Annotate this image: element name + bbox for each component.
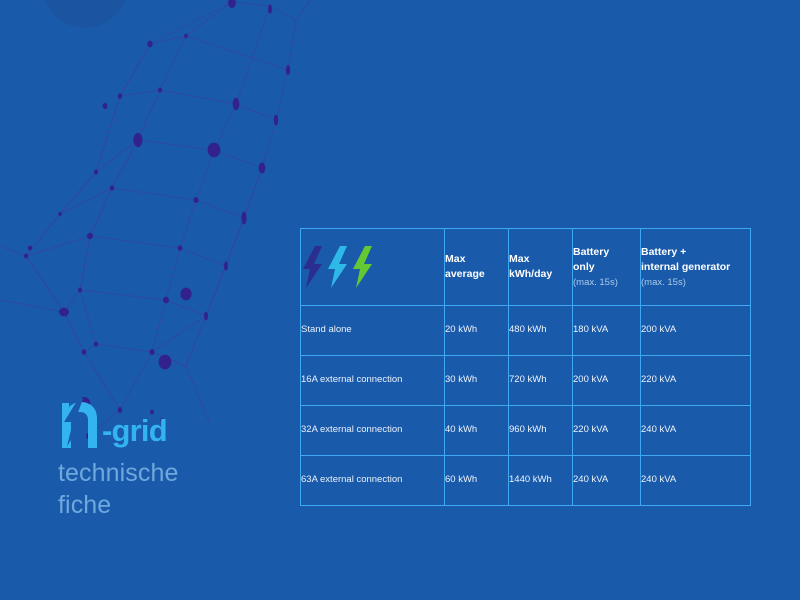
cell-max-kwh-day: 960 kWh [509,406,573,456]
cell-battery-plus-generator: 240 kVA [641,406,751,456]
cell-max-average: 20 kWh [445,306,509,356]
table-header-battery-plus-generator: Battery + internal generator (max. 15s) [641,229,751,306]
cell-battery-plus-generator: 240 kVA [641,456,751,506]
cell-max-average: 60 kWh [445,456,509,506]
header-line-2: average [445,267,508,282]
corner-accent-shape [42,0,128,28]
header-subnote: (max. 15s) [573,277,640,289]
table-header-battery-only: Battery only (max. 15s) [573,229,641,306]
table-header-max-average: Max average [445,229,509,306]
table-row: Stand alone 20 kWh 480 kWh 180 kVA 200 k… [301,306,751,356]
table-body: Stand alone 20 kWh 480 kWh 180 kVA 200 k… [301,306,751,506]
table-row: 63A external connection 60 kWh 1440 kWh … [301,456,751,506]
logo-block: -grid technische fiche [58,398,278,522]
cell-battery-plus-generator: 200 kVA [641,306,751,356]
cell-max-average: 30 kWh [445,356,509,406]
network-constellation-graphic [0,0,330,440]
row-label: 63A external connection [301,456,445,506]
cell-max-kwh-day: 1440 kWh [509,456,573,506]
row-label: 16A external connection [301,356,445,406]
table-header-logo-cell [301,229,445,306]
header-line-1: Max [509,252,572,267]
header-line-2: kWh/day [509,267,572,282]
cell-max-kwh-day: 720 kWh [509,356,573,406]
cell-battery-only: 180 kVA [573,306,641,356]
header-line-1: Battery [573,245,640,260]
header-line-1: Max [445,252,508,267]
cell-max-average: 40 kWh [445,406,509,456]
table-header-row: Max average Max kWh/day Battery only (ma… [301,229,751,306]
header-line-2: internal generator [641,260,750,275]
cell-battery-only: 200 kVA [573,356,641,406]
logo-wordmark: -grid [102,415,167,446]
tagline-line-1: technische [58,457,278,489]
tagline: technische fiche [58,457,278,522]
table-row: 32A external connection 40 kWh 960 kWh 2… [301,406,751,456]
cell-battery-only: 240 kVA [573,456,641,506]
header-subnote: (max. 15s) [641,277,750,289]
row-label: Stand alone [301,306,445,356]
cell-max-kwh-day: 480 kWh [509,306,573,356]
cell-battery-only: 220 kVA [573,406,641,456]
table-row: 16A external connection 30 kWh 720 kWh 2… [301,356,751,406]
slide-canvas: -grid technische fiche [0,0,800,600]
tagline-line-2: fiche [58,489,278,521]
header-line-1: Battery + [641,245,750,260]
n-grid-lightning-logo-icon [58,398,104,448]
table-header-max-kwh-day: Max kWh/day [509,229,573,306]
three-lightning-bolts-icon [301,246,379,288]
specifications-table: Max average Max kWh/day Battery only (ma… [300,228,751,506]
table-header: Max average Max kWh/day Battery only (ma… [301,229,751,306]
cell-battery-plus-generator: 220 kVA [641,356,751,406]
row-label: 32A external connection [301,406,445,456]
header-line-2: only [573,260,640,275]
logo-lockup: -grid [58,398,278,448]
